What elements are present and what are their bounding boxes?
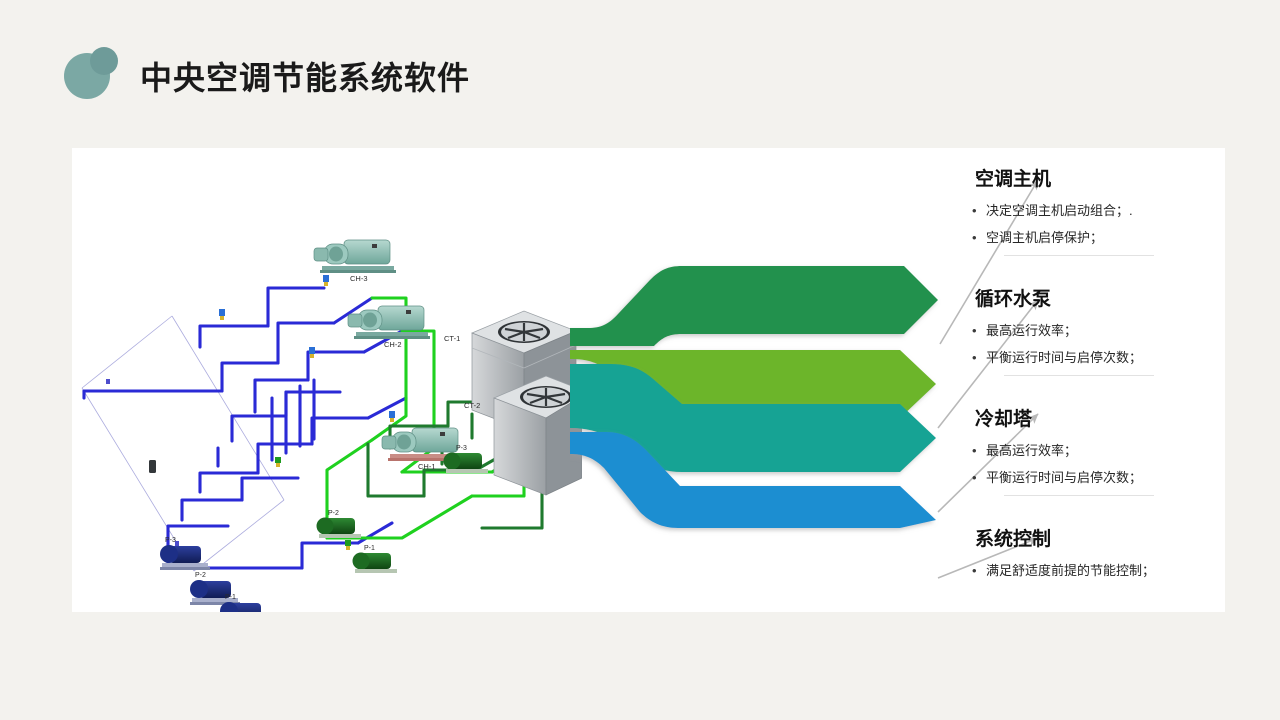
- topic-bullet: • 空调主机启停保护；: [972, 228, 1225, 247]
- topic-bullet: • 最高运行效率；: [972, 441, 1225, 460]
- topic-divider: [1004, 495, 1154, 496]
- logo-circle-accent: [90, 47, 118, 75]
- topic-block-system-control: 系统控制 • 满足舒适度前提的节能控制；: [972, 528, 1225, 588]
- svg-text:P-1: P-1: [225, 594, 236, 601]
- slide-header: 中央空调节能系统软件: [0, 0, 1280, 140]
- svg-text:CH-3: CH-3: [350, 274, 368, 283]
- bullet-label: 平衡运行时间与启停次数；: [986, 348, 1225, 367]
- topic-heading: 系统控制: [975, 528, 1225, 552]
- bullet-label: 满足舒适度前提的节能控制；: [986, 561, 1225, 580]
- bullet-dot-icon: •: [972, 321, 986, 340]
- svg-text:P-1: P-1: [364, 545, 375, 552]
- svg-text:CT-2: CT-2: [464, 401, 480, 410]
- topic-bullet: • 平衡运行时间与启停次数；: [972, 468, 1225, 487]
- bullet-dot-icon: •: [972, 201, 986, 220]
- topic-block-air-conditioning-host: 空调主机 • 决定空调主机启动组合；. • 空调主机启停保护；: [972, 168, 1225, 256]
- bullet-dot-icon: •: [972, 468, 986, 487]
- bullet-dot-icon: •: [972, 561, 986, 580]
- topics-panel: 空调主机 • 决定空调主机启动组合；. • 空调主机启停保护； 循环水泵 • 最…: [972, 160, 1225, 610]
- chilled-water-pump-p1: P-1: [220, 594, 268, 612]
- svg-text:CH-1: CH-1: [418, 462, 436, 471]
- svg-text:P-3: P-3: [456, 445, 467, 452]
- chilled-water-pump-p3: P-3: [160, 537, 210, 570]
- topic-heading: 冷却塔: [975, 408, 1225, 432]
- bullet-dot-icon: •: [972, 348, 986, 367]
- topic-heading: 空调主机: [975, 168, 1225, 192]
- condenser-water-pump-p2: P-2: [317, 510, 362, 538]
- content-card: CT-1 CT-2: [72, 148, 1225, 612]
- page-title: 中央空调节能系统软件: [140, 58, 470, 98]
- topic-bullet: • 满足舒适度前提的节能控制；: [972, 561, 1225, 580]
- topic-divider: [1004, 375, 1154, 376]
- topic-heading: 循环水泵: [975, 288, 1225, 312]
- hvac-schematic-diagram: CT-1 CT-2: [72, 148, 582, 612]
- svg-text:P-3: P-3: [165, 537, 176, 544]
- condenser-water-pump-p1: P-1: [353, 545, 398, 573]
- bullet-label: 平衡运行时间与启停次数；: [986, 468, 1225, 487]
- svg-text:P-2: P-2: [328, 510, 339, 517]
- topic-bullet: • 决定空调主机启动组合；.: [972, 201, 1225, 220]
- overlapping-circles-logo: [64, 47, 122, 103]
- bullet-dot-icon: •: [972, 441, 986, 460]
- bullet-dot-icon: •: [972, 228, 986, 247]
- topic-block-cooling-tower: 冷却塔 • 最高运行效率； • 平衡运行时间与启停次数；: [972, 408, 1225, 496]
- bullet-label: 最高运行效率；: [986, 321, 1225, 340]
- svg-text:CH-2: CH-2: [384, 340, 402, 349]
- topic-block-circulating-pump: 循环水泵 • 最高运行效率； • 平衡运行时间与启停次数；: [972, 288, 1225, 376]
- bullet-label: 决定空调主机启动组合；.: [986, 201, 1225, 220]
- svg-text:P-2: P-2: [195, 572, 206, 579]
- bullet-label: 最高运行效率；: [986, 441, 1225, 460]
- topic-bullet: • 最高运行效率；: [972, 321, 1225, 340]
- chiller-ch-2: CH-2: [348, 306, 430, 349]
- bullet-label: 空调主机启停保护；: [986, 228, 1225, 247]
- ground-reference-lines: [82, 316, 284, 571]
- topic-bullet: • 平衡运行时间与启停次数；: [972, 348, 1225, 367]
- topic-divider: [1004, 255, 1154, 256]
- chilled-water-piping: [84, 288, 406, 568]
- svg-text:CT-1: CT-1: [444, 334, 460, 343]
